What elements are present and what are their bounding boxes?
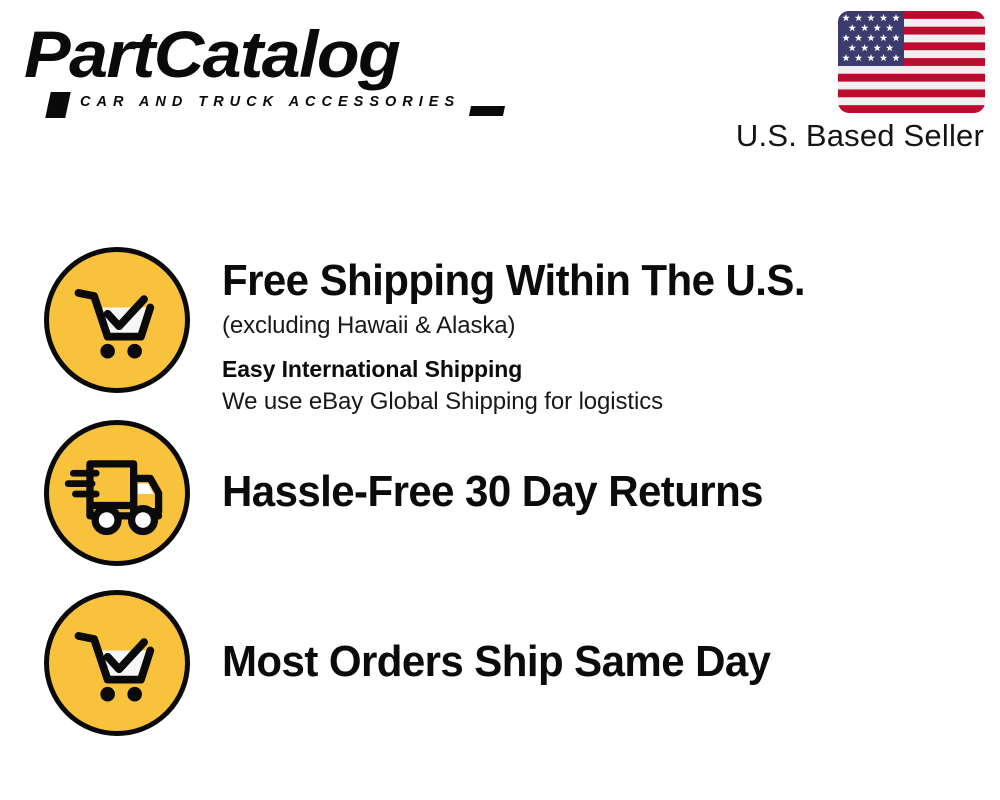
page-header: PartCatalog CAR AND TRUCK ACCESSORIES — [0, 0, 1000, 175]
us-flag-icon — [838, 11, 985, 113]
feature-text-block: Free Shipping Within The U.S. (excluding… — [222, 255, 962, 418]
feature-strong-line: Easy International Shipping — [222, 353, 962, 385]
list-item: Most Orders Ship Same Day — [0, 590, 1000, 762]
feature-subtitle: (excluding Hawaii & Alaska) — [222, 309, 962, 343]
us-based-seller-label: U.S. Based Seller — [736, 117, 984, 155]
feature-title: Hassle-Free 30 Day Returns — [222, 466, 929, 518]
feature-note: We use eBay Global Shipping for logistic… — [222, 385, 962, 418]
brand-logo[interactable]: PartCatalog CAR AND TRUCK ACCESSORIES — [24, 18, 494, 113]
feature-text-block: Most Orders Ship Same Day — [222, 636, 962, 688]
list-item: Free Shipping Within The U.S. (excluding… — [0, 247, 1000, 419]
shopping-cart-check-icon — [44, 590, 190, 736]
delivery-truck-icon — [44, 420, 190, 566]
brand-wordmark: PartCatalog — [24, 18, 399, 90]
logo-right-accent-bar — [469, 106, 505, 116]
feature-title: Free Shipping Within The U.S. — [222, 255, 929, 307]
shopping-cart-check-icon — [44, 247, 190, 393]
feature-title: Most Orders Ship Same Day — [222, 636, 929, 688]
brand-tagline: CAR AND TRUCK ACCESSORIES — [80, 94, 460, 110]
feature-text-block: Hassle-Free 30 Day Returns — [222, 466, 962, 518]
logo-left-accent-bar — [45, 92, 71, 118]
list-item: Hassle-Free 30 Day Returns — [0, 420, 1000, 592]
